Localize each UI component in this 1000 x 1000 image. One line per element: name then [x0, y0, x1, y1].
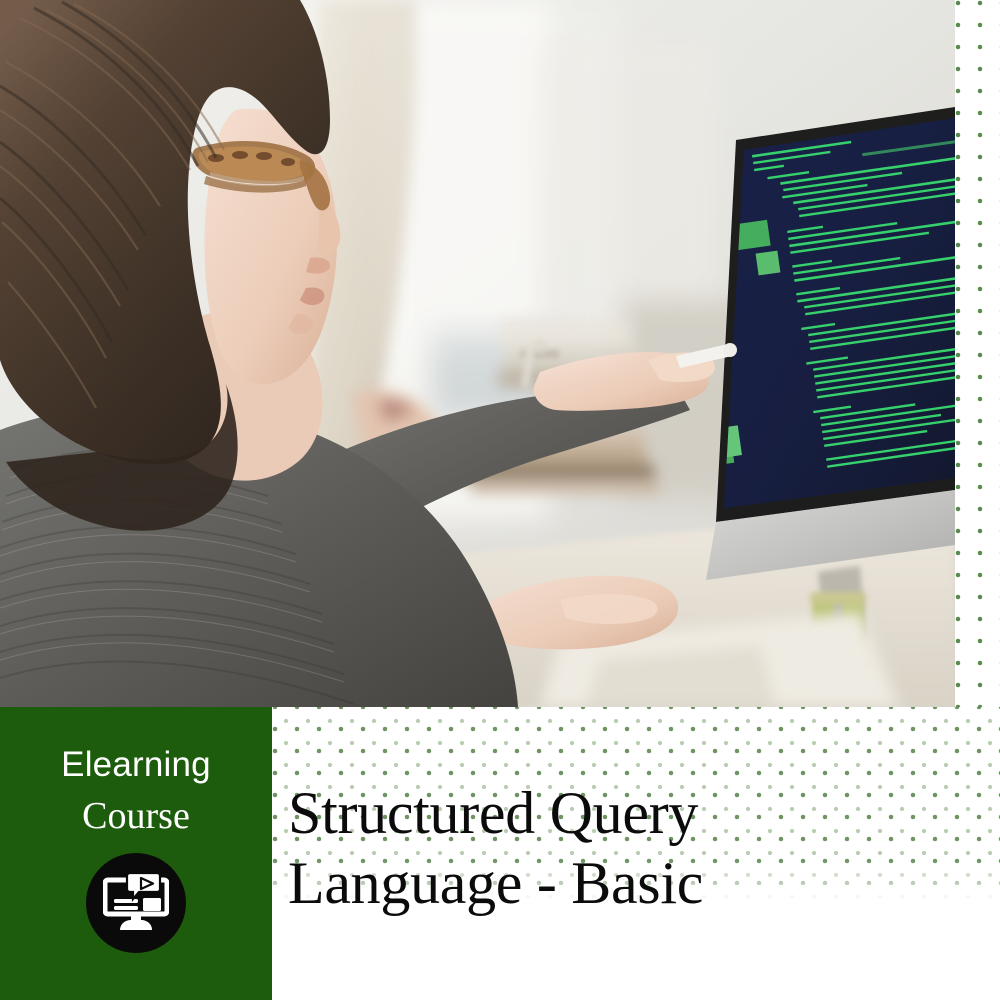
course-title-line-1: Structured Query	[288, 778, 948, 848]
hero-photo	[0, 0, 955, 707]
badge-eyebrow-label: Elearning	[61, 747, 211, 782]
badge-course-label: Course	[82, 797, 190, 835]
course-title: Structured Query Language - Basic	[288, 778, 948, 918]
dot-pattern-right	[955, 0, 1000, 707]
elearning-course-badge: Elearning Course	[0, 707, 272, 1000]
course-poster: Elearning Course Structured Query Lan	[0, 0, 1000, 1000]
course-title-line-2: Language - Basic	[288, 848, 948, 918]
monitor-video-lesson-icon	[86, 853, 186, 953]
